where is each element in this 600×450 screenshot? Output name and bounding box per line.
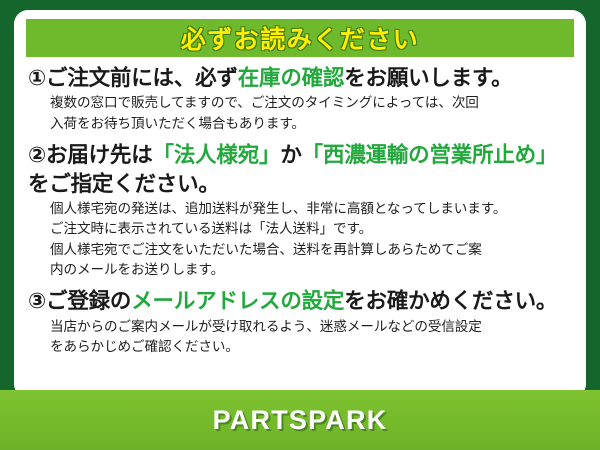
- notice-item-1-body-line-1: 複数の窓口で販売してますので、ご注文のタイミングによっては、次回: [50, 93, 572, 113]
- notice-item-2-heading-highlight-2: 「西濃運輸の営業所止め」: [302, 143, 558, 167]
- notice-item-2-body: 個人様宅宛の発送は、追加送料が発生し、非常に高額となってしまいます。 ご注文時に…: [50, 199, 572, 281]
- footer-brand-band: PARTSPARK: [0, 390, 600, 450]
- notice-item-3-marker: ③: [28, 289, 46, 313]
- notice-item-3-heading-post: をお確かめください。: [344, 289, 557, 313]
- notice-card: 必ずお読みください ①ご注文前には、必ず在庫の確認をお願いします。 複数の窓口で…: [0, 0, 600, 450]
- notice-item-2-heading-mid: か: [280, 143, 301, 167]
- notice-item-2-marker: ②: [28, 143, 46, 167]
- notice-item-1-body: 複数の窓口で販売してますので、ご注文のタイミングによっては、次回 入荷をお待ち頂…: [50, 93, 572, 134]
- notice-item-3-body: 当店からのご案内メールが受け取れるよう、迷惑メールなどの受信設定 をあらかじめご…: [50, 317, 572, 358]
- notice-items-list: ①ご注文前には、必ず在庫の確認をお願いします。 複数の窓口で販売してますので、ご…: [26, 57, 574, 358]
- notice-item-3-heading: ③ご登録のメールアドレスの設定をお確かめください。: [28, 287, 572, 315]
- notice-item-1-body-line-2: 入荷をお待ち頂いただく場合もあります。: [50, 114, 572, 134]
- notice-item-1-heading-post: をお願いします。: [344, 66, 512, 90]
- notice-item-1-heading-highlight: 在庫の確認: [238, 66, 345, 90]
- notice-item-1-heading: ①ご注文前には、必ず在庫の確認をお願いします。: [28, 64, 572, 92]
- notice-item-2-heading-highlight: 「法人様宛」: [153, 143, 281, 167]
- notice-item-2-body-line-4: 内のメールをお送りします。: [50, 260, 572, 280]
- notice-item-2-body-line-3: 個人様宅宛でご注文をいただいた場合、送料を再計算しあらためてご案: [50, 240, 572, 260]
- notice-item-2-heading-post: をご指定ください。: [28, 172, 220, 196]
- notice-item-3-body-line-2: をあらかじめご確認ください。: [50, 337, 572, 357]
- notice-item-3-heading-highlight: メールアドレスの設定: [131, 289, 344, 313]
- notice-item-1: ①ご注文前には、必ず在庫の確認をお願いします。 複数の窓口で販売してますので、ご…: [28, 64, 572, 134]
- title-banner: 必ずお読みください: [26, 19, 574, 57]
- notice-item-1-marker: ①: [28, 66, 46, 90]
- notice-item-3-heading-pre: ご登録の: [46, 289, 131, 313]
- notice-item-2-body-line-2: ご注文時に表示されている送料は「法人送料」です。: [50, 219, 572, 239]
- brand-logo-text: PARTSPARK: [213, 405, 388, 436]
- notice-item-2-heading-pre: お届け先は: [46, 143, 153, 167]
- notice-item-3: ③ご登録のメールアドレスの設定をお確かめください。 当店からのご案内メールが受け…: [28, 287, 572, 357]
- white-content-card: 必ずお読みください ①ご注文前には、必ず在庫の確認をお願いします。 複数の窓口で…: [14, 10, 586, 398]
- notice-item-2-body-line-1: 個人様宅宛の発送は、追加送料が発生し、非常に高額となってしまいます。: [50, 199, 572, 219]
- notice-title: 必ずお読みください: [181, 20, 420, 56]
- notice-item-2-heading: ②お届け先は「法人様宛」か「西濃運輸の営業所止め」をご指定ください。: [28, 141, 572, 198]
- notice-item-2: ②お届け先は「法人様宛」か「西濃運輸の営業所止め」をご指定ください。 個人様宅宛…: [28, 141, 572, 280]
- notice-item-3-body-line-1: 当店からのご案内メールが受け取れるよう、迷惑メールなどの受信設定: [50, 317, 572, 337]
- notice-item-1-heading-pre: ご注文前には、必ず: [46, 66, 238, 90]
